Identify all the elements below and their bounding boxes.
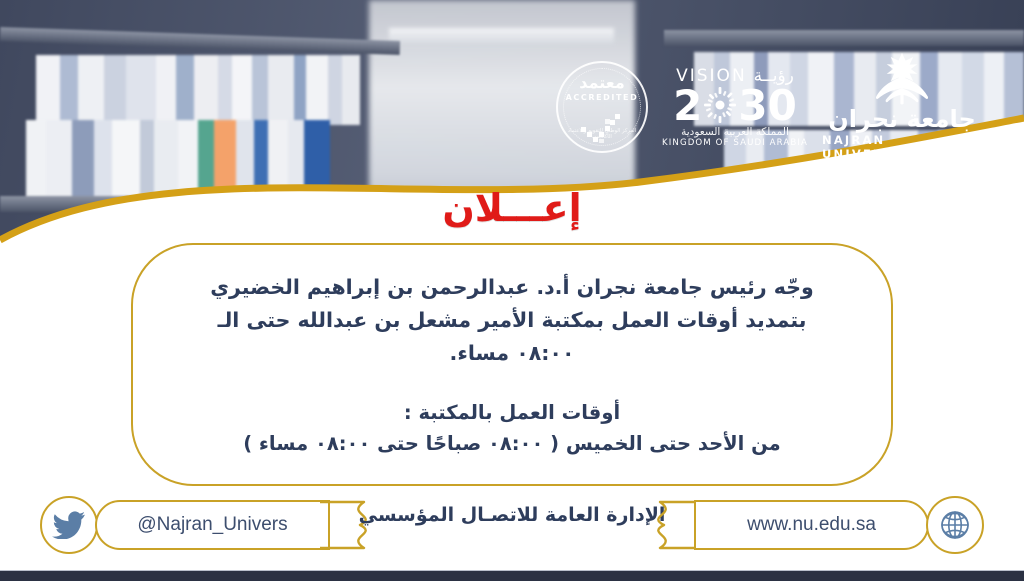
- poster-footer: @Najran_Univers الإدارة العامة للاتصـال …: [0, 488, 1024, 572]
- university-name-ar: جامعة نجران: [828, 107, 976, 131]
- website-label: www.nu.edu.sa: [747, 514, 876, 536]
- vision-number: 2: [673, 86, 797, 126]
- globe-icon: [939, 509, 971, 541]
- vision-number-right: 30: [738, 86, 796, 126]
- check-seal-icon: [579, 111, 625, 145]
- announcement-paragraph-2: أوقات العمل بالمكتبة : من الأحد حتى الخم…: [185, 397, 839, 460]
- announcement-poster: معتمد ACCREDITED المركز الوطني للتقويم و…: [0, 0, 1024, 581]
- vision-kingdom-ar: المملكة العربية السعودية: [681, 126, 789, 138]
- library-hours-detail: من الأحد حتى الخميس ( ٠٨:٠٠ صباحًا حتى ٠…: [185, 428, 839, 460]
- vision-2030-logo: VISION رؤيــة 2: [660, 59, 810, 155]
- website-pill[interactable]: www.nu.edu.sa: [694, 500, 929, 550]
- announcement-content-box: وجّه رئيس جامعة نجران أ.د. عبدالرحمن بن …: [131, 243, 893, 486]
- library-hours-heading: أوقات العمل بالمكتبة :: [185, 397, 839, 429]
- globe-icon-circle[interactable]: [926, 496, 984, 554]
- ceiling-light-strip: [389, 28, 614, 44]
- bottom-bar: [0, 571, 1024, 581]
- announcement-paragraph-1: وجّه رئيس جامعة نجران أ.د. عبدالرحمن بن …: [185, 271, 839, 371]
- vision-number-left: 2: [673, 86, 702, 126]
- najran-university-logo: جامعة نجران NAJRAN UNIVERSITY: [822, 53, 982, 161]
- najran-star-book-icon: [864, 53, 940, 106]
- vision-emblem-icon: [703, 86, 737, 124]
- accreditation-seal: معتمد ACCREDITED المركز الوطني للتقويم و…: [556, 61, 648, 153]
- shelf-rail: [664, 30, 1024, 46]
- university-name-en: NAJRAN UNIVERSITY: [822, 133, 982, 161]
- seal-subtext: المركز الوطني للتقويم والاعتماد الأكاديم…: [558, 128, 646, 140]
- vision-kingdom-en: KINGDOM OF SAUDI ARABIA: [662, 138, 808, 148]
- seal-english-label: ACCREDITED: [566, 93, 639, 102]
- header-logos: معتمد ACCREDITED المركز الوطني للتقويم و…: [556, 52, 1008, 162]
- seal-arabic-label: معتمد: [579, 75, 624, 91]
- page-title: إعـــلان: [0, 186, 1024, 230]
